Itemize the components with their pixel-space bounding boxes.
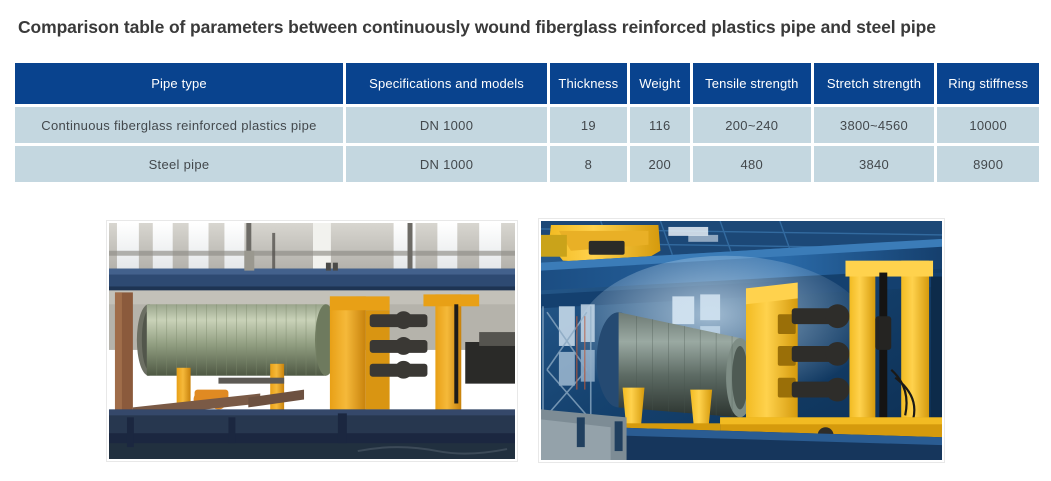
column-header-ring: Ring stiffness: [937, 63, 1039, 104]
column-header-pipe-type: Pipe type: [15, 63, 343, 104]
column-header-tensile: Tensile strength: [693, 63, 811, 104]
cell-weight: 116: [630, 107, 690, 143]
cell-tensile: 200~240: [693, 107, 811, 143]
column-header-specification: Specifications and models: [346, 63, 547, 104]
photo-right-image: [541, 221, 942, 460]
cell-ring: 8900: [937, 146, 1039, 182]
filament-winding-machine-photo-right: [538, 218, 945, 463]
column-header-stretch: Stretch strength: [814, 63, 935, 104]
table-row: Steel pipe DN 1000 8 200 480 3840 8900: [15, 146, 1039, 182]
cell-thickness: 8: [550, 146, 626, 182]
cell-specification: DN 1000: [346, 107, 547, 143]
photo-left-image: [109, 223, 515, 459]
photo-right-illustration: [541, 221, 942, 460]
cell-thickness: 19: [550, 107, 626, 143]
pipe-parameter-comparison-table: Pipe type Specifications and models Thic…: [12, 60, 1042, 185]
table-header-row: Pipe type Specifications and models Thic…: [15, 63, 1039, 104]
filament-winding-machine-photo-left: [106, 220, 518, 462]
page-title: Comparison table of parameters between c…: [18, 17, 1038, 38]
table-row: Continuous fiberglass reinforced plastic…: [15, 107, 1039, 143]
cell-stretch: 3800~4560: [814, 107, 935, 143]
column-header-thickness: Thickness: [550, 63, 626, 104]
cell-stretch: 3840: [814, 146, 935, 182]
photo-gallery: [0, 218, 1051, 468]
photo-left-illustration: [109, 223, 515, 459]
cell-specification: DN 1000: [346, 146, 547, 182]
column-header-weight: Weight: [630, 63, 690, 104]
cell-tensile: 480: [693, 146, 811, 182]
cell-weight: 200: [630, 146, 690, 182]
cell-ring: 10000: [937, 107, 1039, 143]
cell-pipe-type: Steel pipe: [15, 146, 343, 182]
cell-pipe-type: Continuous fiberglass reinforced plastic…: [15, 107, 343, 143]
